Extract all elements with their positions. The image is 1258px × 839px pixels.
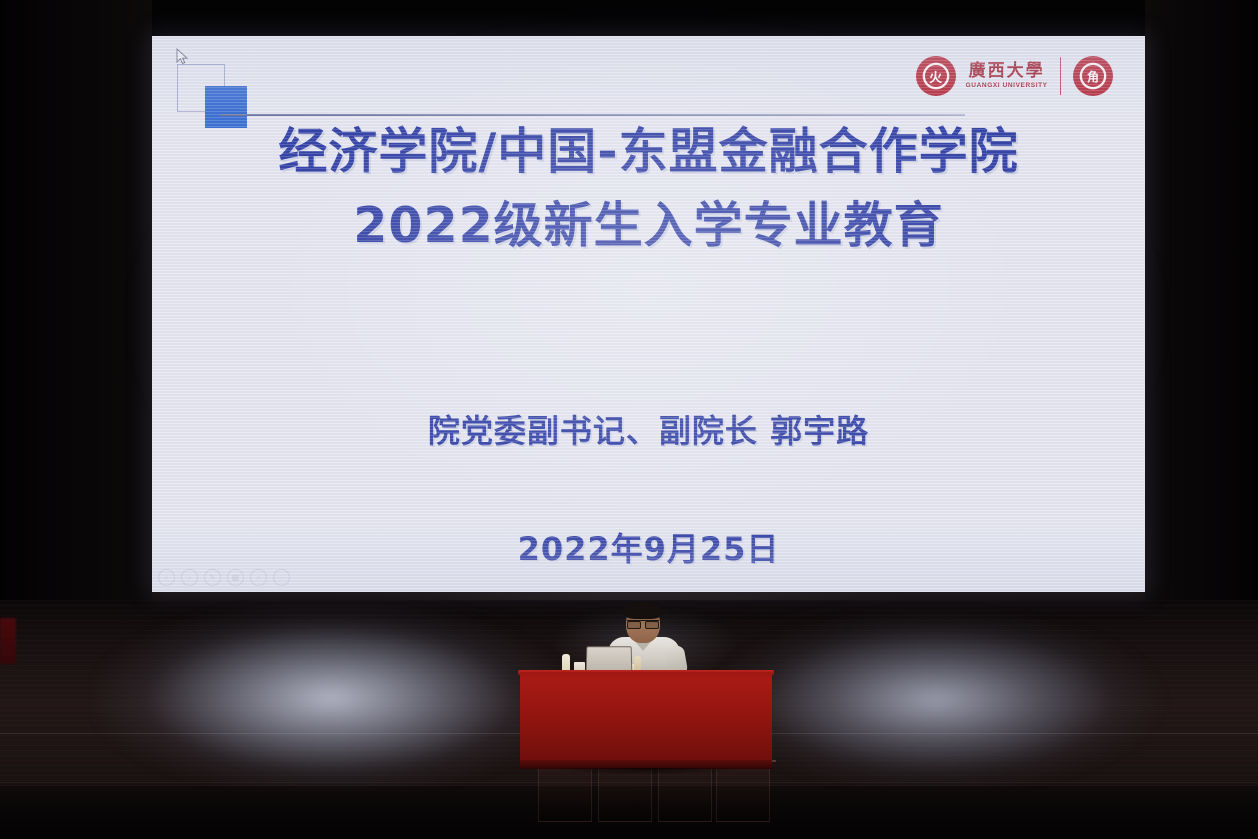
left-stage-prop: [0, 618, 16, 664]
left-wall: [0, 0, 152, 600]
logo-divider: [1060, 57, 1061, 95]
presenter-glasses: [627, 620, 659, 627]
more-options-button[interactable]: ⋯: [273, 569, 290, 586]
lectern-shadow: [510, 768, 782, 784]
projection-screen: 火 廣西大學 GUANGXI UNIVERSITY 角 经济学院/中国-东盟金融…: [152, 36, 1145, 592]
seal-inner-glyph: 火: [916, 56, 956, 96]
presentation-date: 2022年9月25日: [152, 524, 1145, 570]
presenter-toolbar[interactable]: ‹ › ✎ ▦ ⌕ ⋯: [158, 569, 290, 586]
wordmark-english: GUANGXI UNIVERSITY: [966, 83, 1048, 90]
speaker-name: 院党委副书记、副院长 郭宇路: [152, 406, 1145, 452]
all-slides-button[interactable]: ▦: [227, 569, 244, 586]
school-seal-glyph: 角: [1073, 56, 1113, 96]
zoom-button[interactable]: ⌕: [250, 569, 267, 586]
slide-title-line-2: 2022级新生入学专业教育: [152, 196, 1145, 256]
presenter-hair: [624, 602, 662, 619]
slide-title-block: 经济学院/中国-东盟金融合作学院 2022级新生入学专业教育: [152, 122, 1145, 256]
pen-tool-button[interactable]: ✎: [204, 569, 221, 586]
lectern-group: [510, 600, 780, 780]
slide-title-line-1: 经济学院/中国-东盟金融合作学院: [152, 122, 1145, 182]
auditorium-scene: 火 廣西大學 GUANGXI UNIVERSITY 角 经济学院/中国-东盟金融…: [0, 0, 1258, 839]
university-wordmark: 廣西大學 GUANGXI UNIVERSITY: [966, 63, 1048, 90]
mouse-cursor-icon: [176, 48, 189, 66]
guangxi-university-seal-icon: 火: [916, 56, 956, 96]
logo-group: 火 廣西大學 GUANGXI UNIVERSITY 角: [916, 56, 1113, 96]
slide-content: 火 廣西大學 GUANGXI UNIVERSITY 角 经济学院/中国-东盟金融…: [152, 36, 1145, 592]
next-slide-button[interactable]: ›: [181, 569, 198, 586]
slide-subtitle-block: 院党委副书记、副院长 郭宇路 2022年9月25日: [152, 406, 1145, 570]
header-divider: [220, 114, 965, 116]
previous-slide-button[interactable]: ‹: [158, 569, 175, 586]
red-lectern: [520, 672, 772, 764]
wordmark-chinese: 廣西大學: [969, 63, 1045, 80]
school-seal-icon: 角: [1073, 56, 1113, 96]
